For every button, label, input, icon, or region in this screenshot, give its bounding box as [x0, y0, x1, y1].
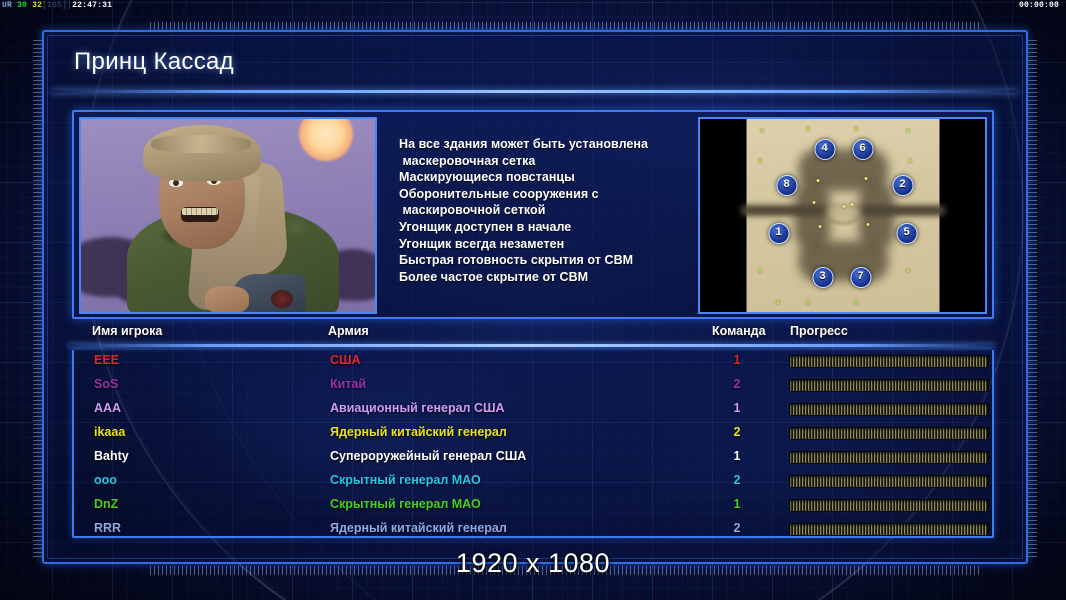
player-progress-bar	[789, 499, 989, 512]
minimap-start-position[interactable]: 2	[892, 175, 913, 196]
minimap-start-position[interactable]: 3	[812, 267, 833, 288]
minimap-supply-dot	[854, 301, 857, 304]
top-status-bar: UR 30 32[165]|22:47:31 00:00:00	[0, 0, 1066, 12]
minimap-supply-dot	[906, 129, 909, 132]
minimap-resource-dot	[812, 201, 815, 204]
portrait-hand	[205, 286, 249, 314]
title-divider	[52, 90, 1018, 93]
minimap-resource-dot	[842, 205, 845, 208]
column-header-team: Команда	[712, 324, 766, 338]
minimap-resource-dot	[818, 225, 821, 228]
table-row[interactable]: AAAАвиационный генерал США1	[74, 398, 992, 422]
table-row[interactable]: RRRЯдерный китайский генерал2	[74, 518, 992, 542]
player-name: SoS	[94, 377, 118, 391]
minimap-supply-dot	[906, 269, 909, 272]
player-team: 1	[728, 449, 746, 463]
minimap-start-position[interactable]: 8	[776, 175, 797, 196]
player-army: Скрытный генерал МАО	[330, 497, 481, 511]
minimap-start-position[interactable]: 7	[850, 267, 871, 288]
player-team: 2	[728, 425, 746, 439]
table-row[interactable]: SoSКитай2	[74, 374, 992, 398]
player-army: Скрытный генерал МАО	[330, 473, 481, 487]
ruler-right	[1028, 40, 1037, 560]
minimap-supply-dot	[776, 301, 779, 304]
player-army: Супероружейный генерал США	[330, 449, 526, 463]
player-name: DnZ	[94, 497, 118, 511]
status-value-2: 32	[32, 1, 42, 10]
resolution-overlay: 1920 x 1080	[0, 548, 1066, 579]
player-progress-bar	[789, 427, 989, 440]
minimap-start-position[interactable]: 4	[814, 139, 835, 160]
player-team: 2	[728, 473, 746, 487]
status-clock: 22:47:31	[72, 1, 112, 10]
table-header-divider	[68, 344, 994, 347]
ruler-left	[33, 40, 42, 560]
minimap-supply-dot	[908, 159, 911, 162]
status-value-1: 30	[17, 1, 27, 10]
minimap-start-position[interactable]: 6	[852, 139, 873, 160]
faction-info-panel: На все здания может быть установлена мас…	[72, 110, 994, 319]
column-header-progress: Прогресс	[790, 324, 848, 338]
page-title: Принц Кассад	[74, 48, 234, 76]
minimap-supply-dot	[758, 159, 761, 162]
minimap-supply-dot	[806, 127, 809, 130]
match-timer: 00:00:00	[1019, 0, 1059, 12]
player-name: ooo	[94, 473, 117, 487]
table-row[interactable]: ikaaaЯдерный китайский генерал2	[74, 422, 992, 446]
player-name: ikaaa	[94, 425, 125, 439]
table-row[interactable]: oooСкрытный генерал МАО2	[74, 470, 992, 494]
player-table-header: Имя игрока Армия Команда Прогресс	[72, 324, 990, 346]
player-army: Китай	[330, 377, 366, 391]
minimap-supply-dot	[760, 129, 763, 132]
portrait-headwrap	[143, 125, 261, 181]
player-name: AAA	[94, 401, 121, 415]
player-table: EEEСША1SoSКитай2AAAАвиационный генерал С…	[72, 350, 994, 538]
player-army: США	[330, 353, 361, 367]
player-progress-bar	[789, 523, 989, 536]
status-left-group: UR 30 32[165]|22:47:31	[2, 0, 112, 12]
table-row[interactable]: DnZСкрытный генерал МАО1	[74, 494, 992, 518]
minimap-resource-dot	[850, 203, 853, 206]
minimap-resource-dot	[816, 179, 819, 182]
player-team: 1	[728, 401, 746, 415]
player-team: 2	[728, 521, 746, 535]
table-row[interactable]: BahtyСупероружейный генерал США1	[74, 446, 992, 470]
minimap-supply-dot	[854, 127, 857, 130]
minimap-supply-dot	[806, 301, 809, 304]
player-name: EEE	[94, 353, 119, 367]
player-team: 1	[728, 497, 746, 511]
player-army: Ядерный китайский генерал	[330, 521, 507, 535]
player-progress-bar	[789, 403, 989, 416]
player-team: 1	[728, 353, 746, 367]
minimap-start-position[interactable]: 1	[768, 223, 789, 244]
column-header-army: Армия	[328, 324, 369, 338]
player-progress-bar	[789, 379, 989, 392]
minimap-supply-dot	[758, 269, 761, 272]
general-portrait	[79, 117, 377, 314]
minimap-resource-dot	[866, 223, 869, 226]
player-army: Авиационный генерал США	[330, 401, 505, 415]
minimap-image: 46821537	[746, 119, 939, 312]
status-bracket: [165]	[42, 1, 67, 10]
minimap-start-position[interactable]: 5	[896, 223, 917, 244]
player-progress-bar	[789, 451, 989, 464]
player-name: RRR	[94, 521, 121, 535]
table-row[interactable]: EEEСША1	[74, 350, 992, 374]
minimap-container[interactable]: 46821537	[698, 117, 987, 314]
minimap-resource-dot	[864, 177, 867, 180]
main-panel: Принц Кассад На все здания может быть ус…	[42, 30, 1028, 564]
player-progress-bar	[789, 475, 989, 488]
column-header-name: Имя игрока	[92, 324, 162, 338]
player-team: 2	[728, 377, 746, 391]
portrait-mouth	[181, 207, 219, 222]
player-name: Bahty	[94, 449, 129, 463]
player-army: Ядерный китайский генерал	[330, 425, 507, 439]
player-progress-bar	[789, 355, 989, 368]
status-prefix: UR	[2, 1, 12, 10]
